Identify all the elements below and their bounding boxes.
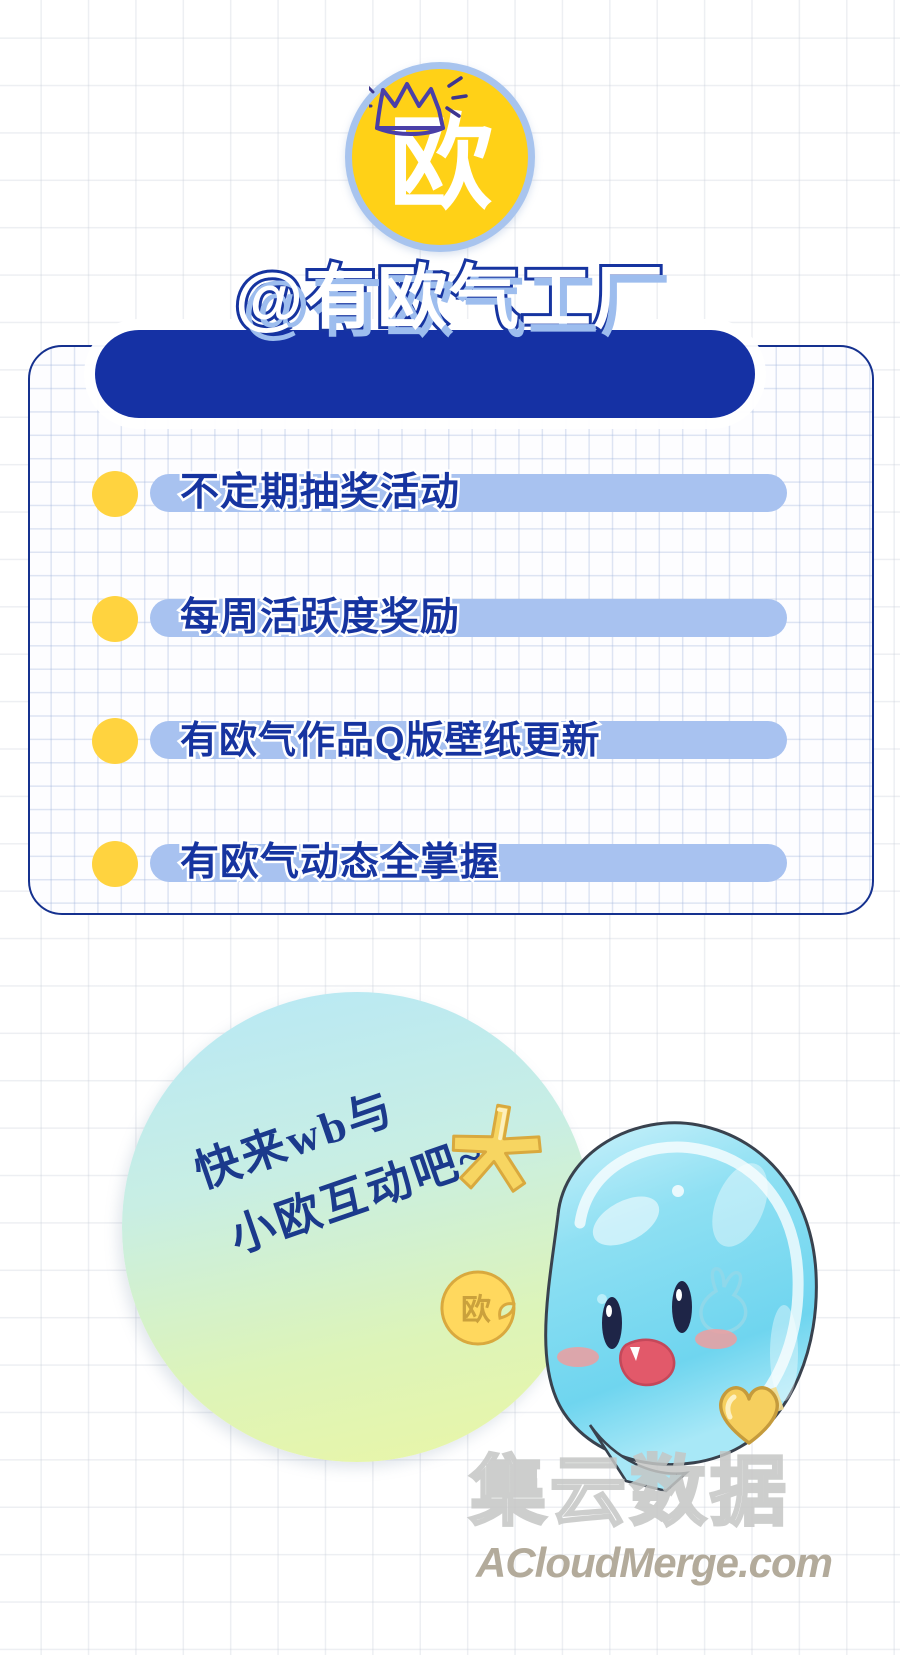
bullet-dot-icon [92,718,138,764]
watermark-cn: 集云数据 [470,1455,890,1531]
bullet-dot-icon [92,471,138,517]
list-item[interactable]: 有欧气作品Q版壁纸更新 [30,709,872,771]
heart-icon [712,1375,786,1447]
list-item-label: 有欧气作品Q版壁纸更新 [180,705,840,767]
list-item[interactable]: 有欧气动态全掌握 [30,832,872,894]
list-item[interactable]: 每周活跃度奖励 [30,587,872,649]
crown-icon [369,76,469,146]
bullet-dot-icon [92,841,138,887]
watermark: 集云数据 ACloudMerge.com [470,1455,890,1635]
watermark-en: ACloudMerge.com [476,1539,890,1587]
feature-card: 不定期抽奖活动 每周活跃度奖励 有欧气作品Q版壁纸更新 有欧气动态全掌握 [28,345,874,915]
list-item[interactable]: 不定期抽奖活动 [30,462,872,524]
feature-list: 不定期抽奖活动 每周活跃度奖励 有欧气作品Q版壁纸更新 有欧气动态全掌握 [30,347,872,913]
list-item-label: 有欧气动态全掌握 [180,828,840,890]
list-item-label: 每周活跃度奖励 [180,583,840,645]
brand-logo: 欧 [345,62,535,252]
coin-icon: 欧 [440,1270,516,1346]
poster-background: 欧 不定期抽奖活动 每周活跃度奖励 有欧气作品Q版壁纸更新 [0,0,900,1655]
list-item-label: 不定期抽奖活动 [180,458,840,520]
page-title: @有欧气工厂 [0,263,900,333]
title-banner [95,330,755,418]
bullet-dot-icon [92,596,138,642]
svg-text:欧: 欧 [461,1294,491,1327]
